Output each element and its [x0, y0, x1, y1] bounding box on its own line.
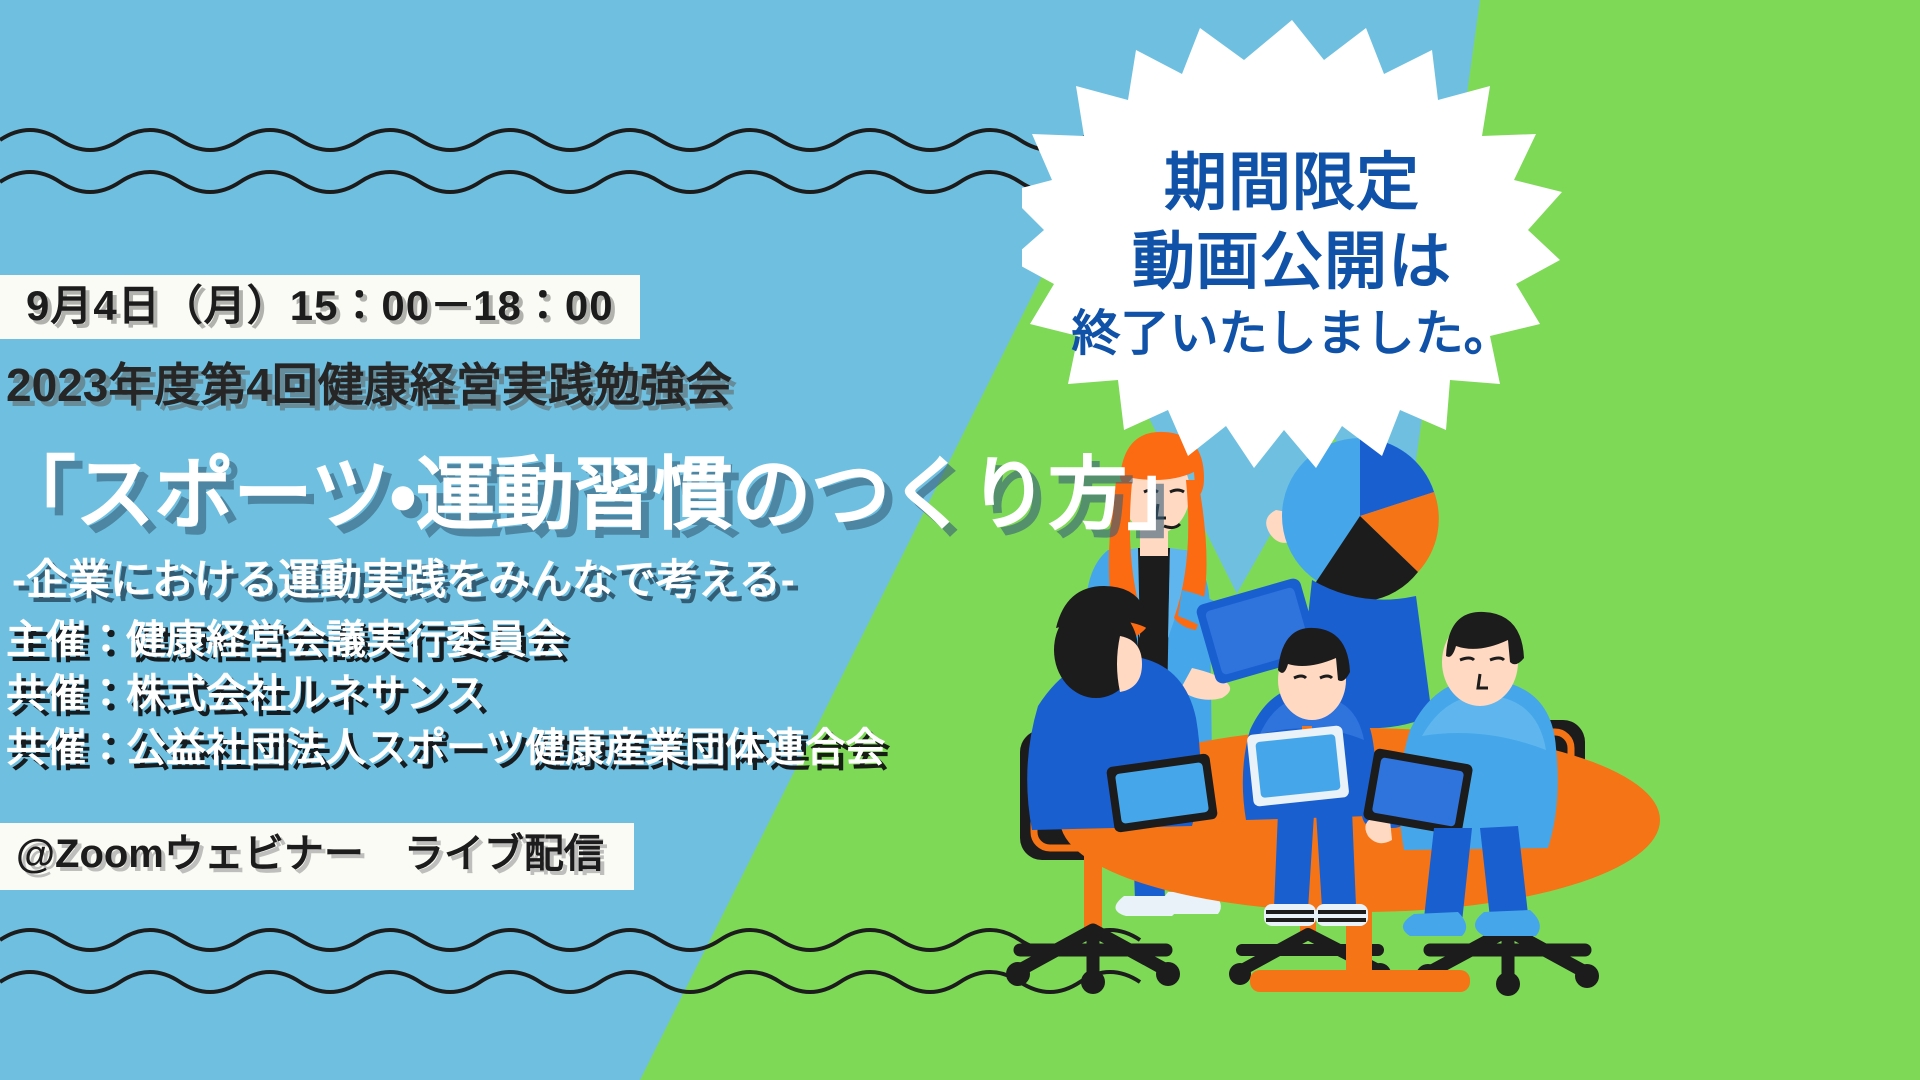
- delivery-method: @Zoomウェビナー ライブ配信: [16, 832, 604, 877]
- delivery-ribbon: @Zoomウェビナー ライブ配信: [0, 823, 634, 890]
- badge-line-2: 動画公開は: [1132, 224, 1452, 301]
- text-column: 9月4日（月）15：00－18：00 2023年度第4回健康経営実践勉強会 「ス…: [0, 0, 1180, 1080]
- event-datetime: 9月4日（月）15：00－18：00: [26, 282, 614, 329]
- date-ribbon: 9月4日（月）15：00－18：00: [0, 275, 640, 339]
- subtitle: -企業における運動実践をみんなで考える-: [12, 557, 795, 603]
- host-list: 主催：健康経営会議実行委員会 共催：株式会社ルネサンス 共催：公益社団法人スポー…: [6, 615, 885, 775]
- page-title: 「スポーツ・運動習慣のつくり方」: [0, 452, 1206, 538]
- promo-banner: 期間限定 動画公開は 終了いたしました。 9月4日（月）15：00－18：00 …: [0, 0, 1920, 1080]
- host-line: 共催：公益社団法人スポーツ健康産業団体連合会: [6, 723, 885, 774]
- series-title: 2023年度第4回健康経営実践勉強会: [6, 360, 732, 412]
- badge-line-1: 期間限定: [1164, 145, 1420, 222]
- host-line: 主催：健康経営会議実行委員会: [6, 615, 885, 666]
- host-line: 共催：株式会社ルネサンス: [6, 669, 885, 720]
